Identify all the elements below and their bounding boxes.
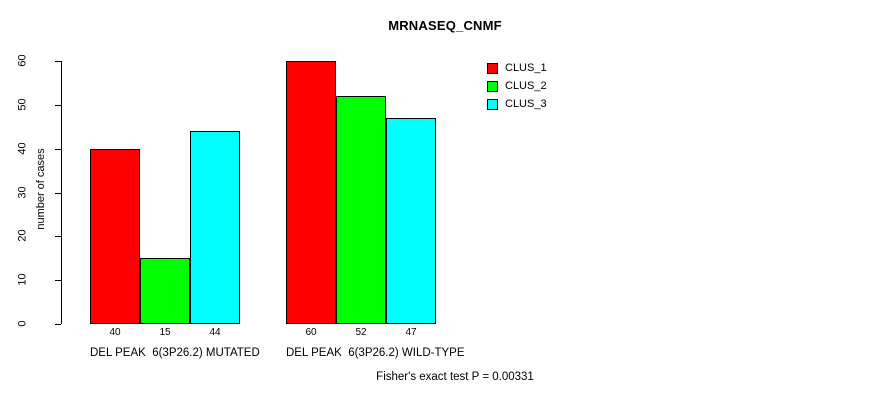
y-axis-tick-label: 0 [18, 304, 29, 344]
legend-color-swatch [487, 81, 498, 92]
bar-value-label: 52 [336, 327, 386, 338]
y-axis-tick-label: 10 [18, 260, 29, 300]
legend-label: CLUS_2 [505, 81, 547, 92]
legend-color-swatch [487, 63, 498, 74]
legend-item: CLUS_3 [487, 96, 607, 112]
bar [90, 149, 140, 324]
chart-canvas: MRNASEQ_CNMF 0102030405060 number of cas… [0, 0, 890, 400]
bar [386, 118, 436, 324]
bar-value-label: 40 [90, 327, 140, 338]
y-axis-tick [55, 324, 61, 325]
bar [190, 131, 240, 324]
chart-title: MRNASEQ_CNMF [0, 18, 890, 33]
legend-label: CLUS_3 [505, 99, 547, 110]
y-axis-tick-label: 30 [18, 172, 29, 212]
legend-label: CLUS_1 [505, 63, 547, 74]
fisher-test-annotation: Fisher's exact test P = 0.00331 [245, 371, 665, 383]
legend-item: CLUS_1 [487, 60, 607, 76]
bar-value-label: 15 [140, 327, 190, 338]
y-axis-tick-label: 60 [18, 41, 29, 81]
legend-color-swatch [487, 99, 498, 110]
group-label: DEL PEAK 6(3P26.2) WILD-TYPE [286, 347, 436, 359]
bar-value-label: 60 [286, 327, 336, 338]
legend-item: CLUS_2 [487, 78, 607, 94]
y-axis-tick-label: 50 [18, 84, 29, 124]
bar-value-label: 44 [190, 327, 240, 338]
group-label: DEL PEAK 6(3P26.2) MUTATED [90, 347, 240, 359]
bar [140, 258, 190, 324]
bar [286, 61, 336, 324]
legend: CLUS_1CLUS_2CLUS_3 [487, 60, 607, 114]
bar-value-label: 47 [386, 327, 436, 338]
bars-layer [45, 61, 465, 324]
bar [336, 96, 386, 324]
plot-area: 0102030405060 number of cases 4015446052… [45, 55, 465, 330]
y-axis-tick-label: 20 [18, 216, 29, 256]
y-axis-tick-label: 40 [18, 128, 29, 168]
